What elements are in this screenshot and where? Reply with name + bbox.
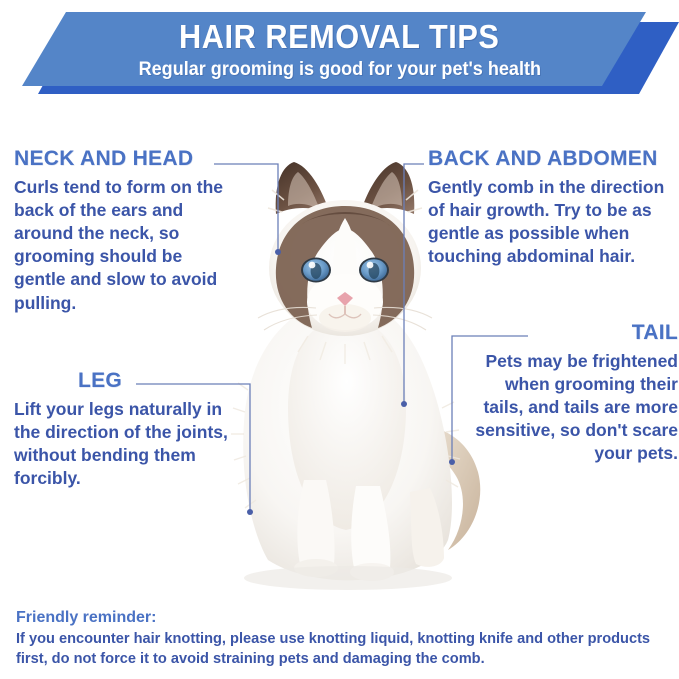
callout-heading-neck-and-head: NECK AND HEAD bbox=[14, 148, 226, 170]
footer-note: Friendly reminder: If you encounter hair… bbox=[16, 608, 666, 669]
callout-body-leg: Lift your legs naturally in the directio… bbox=[14, 398, 230, 490]
banner-text-group: HAIR REMOVAL TIPS Regular grooming is go… bbox=[0, 12, 679, 86]
callout-body-neck-and-head: Curls tend to form on the back of the ea… bbox=[14, 176, 226, 315]
page-title: HAIR REMOVAL TIPS bbox=[179, 20, 499, 53]
infographic-page: HAIR REMOVAL TIPS Regular grooming is go… bbox=[0, 0, 679, 679]
header-banner: HAIR REMOVAL TIPS Regular grooming is go… bbox=[0, 0, 679, 104]
callout-body-tail: Pets may be frightened when grooming the… bbox=[466, 350, 678, 465]
callout-heading-leg: LEG bbox=[14, 370, 230, 392]
footer-heading: Friendly reminder: bbox=[16, 608, 666, 628]
callout-leg: LEG Lift your legs naturally in the dire… bbox=[14, 370, 230, 490]
callout-back-and-abdomen: BACK AND ABDOMEN Gently comb in the dire… bbox=[428, 148, 678, 268]
callout-tail: TAIL Pets may be frightened when groomin… bbox=[466, 322, 678, 466]
callout-body-back-and-abdomen: Gently comb in the direction of hair gro… bbox=[428, 176, 678, 268]
callout-neck-and-head: NECK AND HEAD Curls tend to form on the … bbox=[14, 148, 226, 315]
callout-heading-tail: TAIL bbox=[466, 322, 678, 344]
callout-heading-back-and-abdomen: BACK AND ABDOMEN bbox=[428, 148, 678, 170]
footer-body: If you encounter hair knotting, please u… bbox=[16, 630, 666, 669]
page-subtitle: Regular grooming is good for your pet's … bbox=[138, 60, 540, 79]
